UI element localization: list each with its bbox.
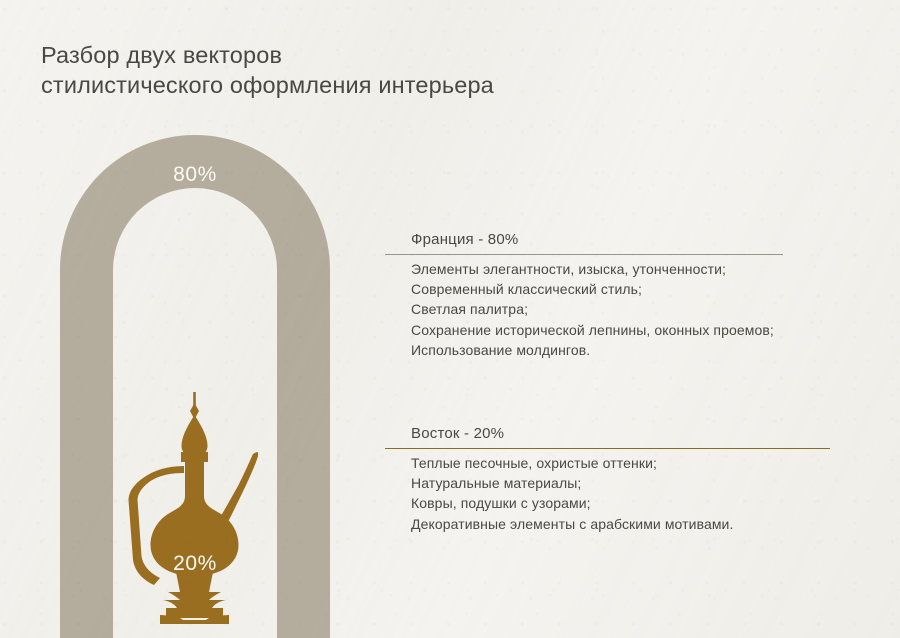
page-title: Разбор двух векторов стилистического офо… xyxy=(41,40,494,100)
list-item: Сохранение исторической лепнины, оконных… xyxy=(411,320,845,340)
oriental-ewer-icon xyxy=(129,392,259,624)
list-item: Светлая палитра; xyxy=(411,299,845,319)
list-item: Современный классический стиль; xyxy=(411,279,845,299)
list-item: Элементы элегантности, изыска, утонченно… xyxy=(411,259,845,279)
arch-percent-label: 80% xyxy=(135,163,255,187)
list-item: Использование молдингов. xyxy=(411,340,845,360)
section-france-heading: Франция - 80% xyxy=(385,230,845,254)
section-france-list: Элементы элегантности, изыска, утонченно… xyxy=(385,255,845,360)
section-east: Восток - 20% Теплые песочные, охристые о… xyxy=(385,424,845,534)
section-east-heading: Восток - 20% xyxy=(385,424,845,448)
list-item: Декоративные элементы с арабскими мотива… xyxy=(411,514,845,534)
vessel-percent-label: 20% xyxy=(135,552,255,576)
section-france: Франция - 80% Элементы элегантности, изы… xyxy=(385,230,845,360)
section-east-list: Теплые песочные, охристые оттенки; Натур… xyxy=(385,449,845,534)
list-item: Натуральные материалы; xyxy=(411,473,845,493)
list-item: Ковры, подушки с узорами; xyxy=(411,493,845,513)
list-item: Теплые песочные, охристые оттенки; xyxy=(411,453,845,473)
